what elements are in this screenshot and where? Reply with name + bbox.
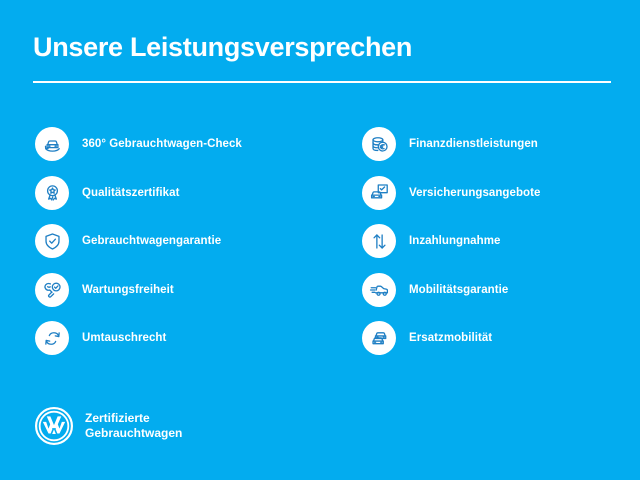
benefit-item-insurance-offers[interactable]: Versicherungsangebote <box>362 176 640 210</box>
benefit-label: 360° Gebrauchtwagen-Check <box>82 138 242 150</box>
benefit-label: Gebrauchtwagengarantie <box>82 235 221 247</box>
benefit-label: Umtauschrecht <box>82 332 166 344</box>
coins-euro-icon <box>362 127 396 161</box>
page-title: Unsere Leistungsversprechen <box>33 30 412 64</box>
benefit-label: Ersatzmobilität <box>409 332 492 344</box>
benefit-item-return-right[interactable]: Umtauschrecht <box>35 321 335 355</box>
benefit-label: Finanzdienstleistungen <box>409 138 538 150</box>
footer-brand-text: Zertifizierte Gebrauchtwagen <box>85 411 182 441</box>
promise-panel: Unsere Leistungsversprechen 360° Gebrauc… <box>0 0 640 480</box>
benefit-item-quality-certificate[interactable]: Qualitätszertifikat <box>35 176 335 210</box>
benefit-item-mobility-guarantee[interactable]: Mobilitätsgarantie <box>362 273 640 307</box>
benefit-label: Qualitätszertifikat <box>82 187 179 199</box>
arrows-up-down-icon <box>362 224 396 258</box>
benefit-label: Versicherungsangebote <box>409 187 540 199</box>
footer-line-2: Gebrauchtwagen <box>85 426 182 440</box>
benefit-label: Mobilitätsgarantie <box>409 284 508 296</box>
car-motion-icon <box>362 273 396 307</box>
title-divider <box>33 81 611 83</box>
car-check-360-icon <box>35 127 69 161</box>
shield-check-icon <box>35 224 69 258</box>
footer-line-1: Zertifizierte <box>85 411 150 425</box>
benefit-item-360-check[interactable]: 360° Gebrauchtwagen-Check <box>35 127 335 161</box>
benefit-label: Inzahlungnahme <box>409 235 500 247</box>
exchange-arrows-icon <box>35 321 69 355</box>
wrench-check-icon <box>35 273 69 307</box>
benefits-right-column: Finanzdienstleistungen Versicherungsange… <box>362 127 640 370</box>
volkswagen-logo <box>34 406 74 446</box>
benefit-label: Wartungsfreiheit <box>82 284 174 296</box>
benefits-left-column: 360° Gebrauchtwagen-Check Qualitätszerti… <box>35 127 335 370</box>
benefit-item-maintenance-free[interactable]: Wartungsfreiheit <box>35 273 335 307</box>
car-document-check-icon <box>362 176 396 210</box>
footer-brand: Zertifizierte Gebrauchtwagen <box>34 406 182 446</box>
benefit-item-warranty[interactable]: Gebrauchtwagengarantie <box>35 224 335 258</box>
benefit-item-trade-in[interactable]: Inzahlungnahme <box>362 224 640 258</box>
benefit-item-replacement-mobility[interactable]: Ersatzmobilität <box>362 321 640 355</box>
benefit-item-financial-services[interactable]: Finanzdienstleistungen <box>362 127 640 161</box>
two-cars-icon <box>362 321 396 355</box>
award-rosette-icon <box>35 176 69 210</box>
